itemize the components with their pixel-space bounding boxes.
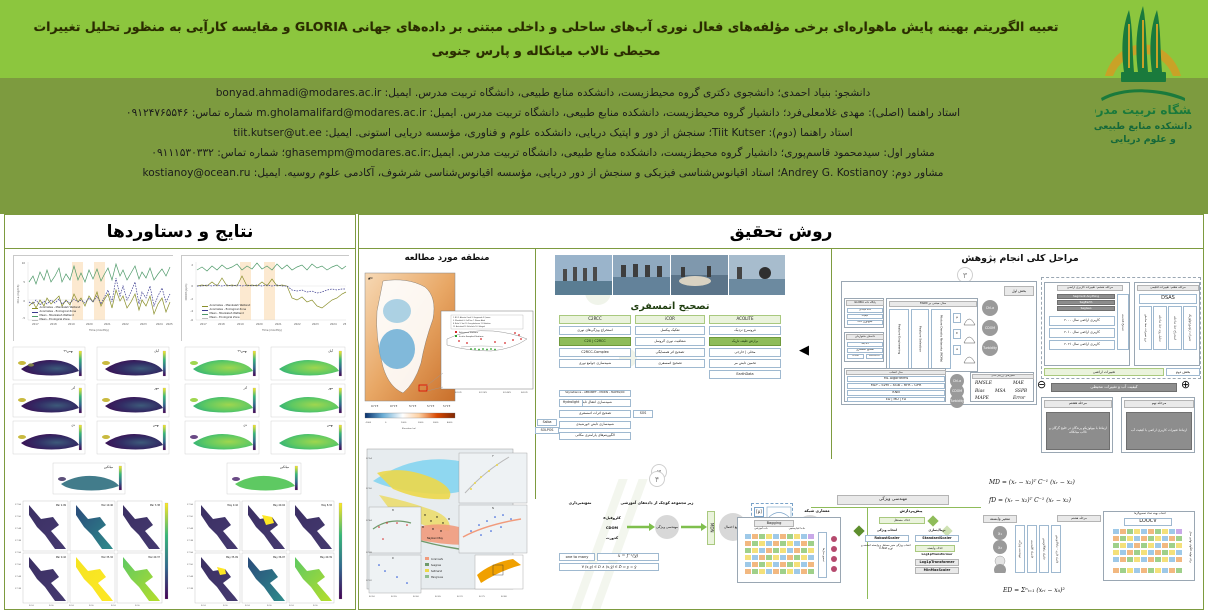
bagging-panel: Bagging داده آموزشی داده اعتبارسنجی <box>737 517 841 583</box>
svg-text:52.70: 52.70 <box>457 596 463 598</box>
stage9-text: ارتباط تغییرات کاربری اراضی با کیفیت آب <box>1126 412 1192 450</box>
svg-text:2000: 2000 <box>418 422 424 424</box>
ml-row-models: MLP – SVM – XGB – RFR – GPR <box>847 383 945 389</box>
monthly-map-mean-left: میانگین <box>51 461 139 497</box>
svg-text:52.75: 52.75 <box>479 596 485 598</box>
svg-text:x₁: x₁ <box>998 531 1002 536</box>
author-line-supervisor-second: استاد راهنما (دوم): Tiit Kutser؛ سنجش از… <box>10 124 1076 144</box>
svg-text:25: 25 <box>343 322 347 326</box>
svg-text:27.56: 27.56 <box>15 552 22 554</box>
svg-text:27.50: 27.50 <box>187 564 194 566</box>
atm-item: برازش طیف تاریک <box>709 337 781 346</box>
mdn-sampling-label: نمونه‌برداری <box>553 501 607 505</box>
atm-item: EarthData <box>709 370 781 379</box>
svg-text:27.44: 27.44 <box>366 520 372 522</box>
mdn-feature-engineering-node: مهندسی ویژگی <box>655 515 679 539</box>
nn-nodes: x₁ x₂ <box>987 525 1013 573</box>
svg-text:Mar 10.46: Mar 10.46 <box>101 504 113 507</box>
svg-text:27.50: 27.50 <box>366 488 372 490</box>
lulc-block: مرحله ششم: تغییرات کاربری اراضی Segment … <box>1044 282 1130 366</box>
preprocessing-label: پیش‌پردازش <box>883 509 939 513</box>
distance-panel: متغیر وابسته مرحله هشتم x₁ x₂ مهندسی ویژ… <box>983 515 1101 577</box>
dist-col-mahalanobis: فاصله ماهالانوبیس <box>1039 525 1049 573</box>
mdn-target-cdom: CDOM <box>597 527 627 531</box>
svg-text:-5: -5 <box>22 316 25 320</box>
stage8-title: مرحله هشتم <box>1044 400 1112 408</box>
svg-text:2024: 2024 <box>330 322 337 326</box>
mdn-block-title: مدل مبتنی بر MDN <box>889 301 977 307</box>
svg-text:Mar 35.32: Mar 35.32 <box>101 556 113 559</box>
mdn-eq-inverse: x = f⁻¹(y) <box>597 553 659 561</box>
atm-side-row: تصحیح اثرات اتمسفری <box>559 410 631 418</box>
bagging-valid-label: داده اعتبارسنجی <box>780 528 814 531</box>
svg-text:10: 10 <box>22 261 26 265</box>
scaler-log1p: Log1pTransformer <box>915 559 959 566</box>
diamond-icon <box>853 525 865 537</box>
step-badge-mdn: ۴ <box>649 471 665 487</box>
svg-text:52.4: 52.4 <box>201 605 206 607</box>
svg-text:-1000: -1000 <box>365 422 372 424</box>
svg-text:54°0'E: 54°0'E <box>443 405 451 408</box>
svg-text:52.6: 52.6 <box>89 605 94 607</box>
metric-mae: MAE <box>1013 381 1024 386</box>
shoreline-col: تحلیل روند خط ساحلی <box>1153 306 1167 350</box>
metric-msa: MSA <box>995 389 1006 394</box>
svg-text:May 0.42: May 0.42 <box>227 504 238 507</box>
bay-panels-turbidity: May 0.42 May 40.04 May 8.32 <box>183 499 353 607</box>
svg-text:50°0'E: 50°0'E <box>409 405 417 408</box>
atm-side-row: شبیه‌سازی تابش خورشیدی <box>559 421 631 429</box>
svg-text:بهمن: بهمن <box>153 423 159 427</box>
timeseries-chart-cdom: 2 0 -2 -4 -6 201720182019 202020212022 2… <box>181 255 349 341</box>
cdom-legend: Anomalies - Miankaleh Wetland Anomalies … <box>202 304 250 320</box>
svg-text:27.56: 27.56 <box>187 504 194 506</box>
part1-panel: بخش اول Chl-a CDOM Turbidity مدل مبتنی ب… <box>841 281 1037 405</box>
poster-title-line2: محیطی تالاب میانکاله و پارس جنوبی <box>34 39 1059 63</box>
shoreline-block: مرحله هفتم: تغییرات اقلیمی DSAS نرخ تغیی… <box>1134 282 1200 366</box>
shoreline-col: استخراج خط ساحلی <box>1168 306 1182 350</box>
svg-text:Time (monthly): Time (monthly) <box>262 328 282 332</box>
svg-text:دانشگاه تربیت مدرس: دانشگاه تربیت مدرس <box>1095 103 1191 117</box>
section-results: نتایج و دستاوردها <box>4 214 356 610</box>
atm-side-label-sos: SOS <box>633 410 653 418</box>
svg-text:52.65: 52.65 <box>435 596 441 598</box>
university-logo: دانشگاه تربیت مدرس دانشکده منابع طبیعی و… <box>1084 2 1202 210</box>
svg-text:2022: 2022 <box>294 322 301 326</box>
poster-root: تعبیه الگوریتم بهینه پایش ماهواره‌ای برخ… <box>0 0 1208 610</box>
svg-text:میانگین: میانگین <box>104 465 114 469</box>
svg-text:27.54: 27.54 <box>366 458 372 460</box>
ml-row-knn: KNN <box>847 390 945 396</box>
svg-text:بهمن۹۹: بهمن۹۹ <box>64 349 74 353</box>
loocv-panel: انتخاب بهینه تعداد تصحیح‌گرها LOOCV <box>1103 511 1195 581</box>
svg-text:2019: 2019 <box>237 322 244 326</box>
svg-text:Mar 40.37: Mar 40.37 <box>148 556 160 559</box>
svg-text:52.4: 52.4 <box>111 605 116 607</box>
svg-text:53°0'E: 53°0'E <box>455 392 462 394</box>
svg-text:53°20'E: 53°20'E <box>479 392 488 394</box>
svg-text:52.6: 52.6 <box>135 605 140 607</box>
svg-text:27.38: 27.38 <box>366 552 372 554</box>
svg-text:Reference Stations: Reference Stations <box>459 331 478 334</box>
bagging-output-nodes <box>829 534 839 578</box>
pre-std-label: نرمال‌سازی <box>915 529 959 532</box>
loocv-label: LOOCV <box>1124 518 1172 526</box>
shoreline-col: تغییرات ژئومورفولوژیک <box>1183 306 1197 350</box>
svg-text:27.38: 27.38 <box>187 540 194 542</box>
svg-text:52.55: 52.55 <box>391 596 397 598</box>
research-steps-title: مراحل کلی انجام پژوهش <box>839 253 1201 264</box>
chla-legend: Anomalies - Miankaleh Wetland Anomalies … <box>32 306 80 322</box>
atm-side-label-aeronet: Skyradiance – AERONET – MODIS – MAPSS/OC <box>559 390 631 397</box>
svg-text:2025: 2025 <box>166 322 173 326</box>
dist-col-fuzzy-mahalanobis: فاصله فازی – ماهالانوبیس <box>1051 525 1061 573</box>
tarbiat-modares-logo-icon: دانشگاه تربیت مدرس <box>1095 2 1191 120</box>
svg-text:آذر: آذر <box>70 386 75 390</box>
author-line-advisor-first: مشاور اول: سیدمحمود قاسم‌پوری؛ دانشیار گ… <box>10 143 1076 163</box>
param-alpha: α <box>953 345 961 355</box>
atm-item: C2X | C2RCC <box>559 337 631 346</box>
atm-item: تصحیح اثر همسایگی <box>635 348 705 357</box>
dist-col-euclidean: فاصله اقلیدسی <box>1027 525 1037 573</box>
lulc-change-bar: تغییرات اراضی <box>1044 368 1164 376</box>
svg-text:27.44: 27.44 <box>15 576 22 578</box>
svg-text:Mangroves: Mangroves <box>431 576 444 579</box>
scaler-minmax: MinMaxScaler <box>915 567 959 574</box>
atm-col-header-acolite: ACOLITE <box>709 315 781 324</box>
svg-text:2018: 2018 <box>50 322 57 326</box>
mdn-target-turbidity: کدورت <box>597 537 627 541</box>
svg-text:52.4: 52.4 <box>245 605 250 607</box>
ml-row-distances: ED | MD | FD <box>847 397 945 402</box>
stage8-text: ارتباط با بیولوژیکو پرندگان در خلیج گرگا… <box>1046 412 1110 450</box>
method-section-title: روش تحقیق <box>730 222 833 242</box>
svg-text:Seagrass: Seagrass <box>431 564 442 567</box>
atm-item: تصحیح اتمسفری <box>635 359 705 368</box>
gloria-row: کیفیت <box>847 314 883 319</box>
svg-text:May 40.04: May 40.04 <box>273 504 286 507</box>
svg-text:آبان: آبان <box>328 349 333 353</box>
svg-text:2024: 2024 <box>156 322 163 326</box>
scaler-robust: RobustScaler <box>865 535 909 542</box>
svg-text:Elevation (m): Elevation (m) <box>402 427 416 430</box>
mdn-network-label: MDN <box>707 511 715 545</box>
chip-independent: حذف مستقل <box>879 517 925 524</box>
svg-text:52.60: 52.60 <box>413 596 419 598</box>
mdn-feature-engineering: Feature Engineering <box>889 309 909 369</box>
svg-text:3000: 3000 <box>433 422 439 424</box>
svg-text:CDOM (ppm): CDOM (ppm) <box>184 284 188 301</box>
svg-text:27.44: 27.44 <box>187 528 194 530</box>
svg-text:48°0'E: 48°0'E <box>390 405 398 408</box>
atm-item: شبیه‌سازی جوامع نوری <box>559 359 631 368</box>
section-method: روش تحقیق منطقه مورد مطالعه <box>358 214 1204 610</box>
mdn-density-curves <box>963 311 977 369</box>
timeseries-chla-svg: 10 5 0 -5 201720182019 202020212022 2023… <box>14 256 174 342</box>
target-cdom: CDOM <box>982 320 998 336</box>
bagging-grid <box>744 533 816 579</box>
pre-norm-desc: انتخاب ویژگی مغیر مستقل و وابسته انحاضه … <box>861 544 911 551</box>
svg-text:Chl-a (mg/m3): Chl-a (mg/m3) <box>16 285 20 304</box>
svg-text:Nayband Bay: Nayband Bay <box>427 537 444 540</box>
legend-item: Mean - Ecological Zone <box>202 316 250 320</box>
atm-side-label-salba: Salba <box>537 419 557 426</box>
mdn-arrow-icon-1 <box>627 521 655 533</box>
svg-text:Mar 0.42: Mar 0.42 <box>56 556 67 559</box>
legend-item: Mean - Ecological Zone <box>32 318 80 322</box>
gloria-row: داده میدانی <box>847 308 883 313</box>
author-line-supervisor-main: استاد راهنما (اصلی): مهدی غلامعلی‌فرد؛ د… <box>10 104 1076 124</box>
svg-text:2023: 2023 <box>312 322 319 326</box>
svg-text:آذر: آذر <box>242 386 247 390</box>
arrow-right-circle-icon: ⊖ <box>1037 379 1046 390</box>
target-turbidity: Turbidity <box>982 340 998 356</box>
formula-fuzzy-mahalanobis: fD = (xᵣ − x₂)ᵀ C⁻¹ (xᵣ − x₂) <box>989 497 1071 504</box>
svg-text:4000: 4000 <box>447 422 453 424</box>
mdn-feature-selection: Feature Selection <box>911 309 929 369</box>
svg-text:آبان: آبان <box>154 349 159 353</box>
svg-text:27.56: 27.56 <box>187 552 194 554</box>
svg-text:مهر: مهر <box>153 386 159 390</box>
svg-text:27.44: 27.44 <box>187 576 194 578</box>
lulc-segment: SegGeo <box>1057 306 1115 311</box>
lulc-year-2000: کاربری اراضی سال ۲۰۰۰ <box>1049 316 1115 326</box>
field-photo-strip <box>555 255 785 295</box>
svg-text:52°0'E: 52°0'E <box>427 405 435 408</box>
svg-text:بهمن: بهمن <box>327 423 333 427</box>
metrics-panel: معیارهای ارزیابی مدل RMSLE MAE Bias MSA … <box>970 372 1034 402</box>
network-architecture-label: معماری شبکه <box>789 509 845 513</box>
formula-euclidean: ED = Σⁿᵢ₌₁ (xᵣᵢ − xᵢᵢ)² <box>1003 587 1065 594</box>
atmospheric-correction-columns: C2RCC استخراج ویژگی‌های نوری C2X | C2RCC… <box>559 315 781 387</box>
timeseries-chart-chla: 10 5 0 -5 201720182019 202020212022 2023… <box>13 255 173 341</box>
svg-text:52.4: 52.4 <box>69 605 74 607</box>
divider-steps <box>831 249 832 459</box>
formula-mahalanobis: MD = (xᵣ − x₂)ᵀ C⁻¹ (xᵣ − x₂) <box>989 479 1075 486</box>
svg-text:52.6: 52.6 <box>313 605 318 607</box>
metric-bias: Bias <box>975 389 985 394</box>
lulc-side-label: تصحیح هندسی <box>1117 294 1129 350</box>
mdn-subset-label: زیر مجموعه کوچک از داده‌های آموزشی <box>609 501 705 505</box>
svg-text:53°40'E: 53°40'E <box>503 392 512 394</box>
svg-text:-4: -4 <box>190 309 193 313</box>
shoreline-title: مرحله هفتم: تغییرات اقلیمی <box>1137 285 1199 291</box>
metric-error: Error <box>1013 396 1025 401</box>
target-chla: Chl-a <box>982 300 998 316</box>
results-section-title: نتایج و دستاوردها <box>107 222 254 242</box>
svg-text:27.32: 27.32 <box>366 580 372 582</box>
atm-item: تفکیک پیکسل <box>635 326 705 335</box>
metric-mape: MAPE <box>975 396 989 401</box>
svg-text:54°0'E: 54°0'E <box>521 392 528 394</box>
svg-text:-2: -2 <box>190 297 193 301</box>
poster-title-line1: تعبیه الگوریتم بهینه پایش ماهواره‌ای برخ… <box>34 15 1059 39</box>
gloria-row: جمع‌آوری داده <box>847 320 883 325</box>
poster-title: تعبیه الگوریتم بهینه پایش ماهواره‌ای برخ… <box>20 11 1189 67</box>
svg-text:2020: 2020 <box>86 322 93 326</box>
bagging-label: Bagging <box>754 520 794 527</box>
dependent-variable-label: متغیر وابسته <box>983 515 1017 523</box>
water-quality-bar: کیفیت آب و تغییرات محیطی <box>1051 383 1177 392</box>
sat-row: تصحیح اتمسفری <box>847 348 883 353</box>
feature-engineering-rule <box>811 507 981 508</box>
svg-text:27.50: 27.50 <box>15 516 22 518</box>
atm-item: استخراج ویژگی‌های نوری <box>559 326 631 335</box>
chip-dependent: حذف وابسته <box>915 545 955 552</box>
left-arrow-icon: ◀ <box>799 344 809 357</box>
svg-text:Time (monthly): Time (monthly) <box>89 328 109 332</box>
svg-text:Mar 3.38: Mar 3.38 <box>150 504 161 507</box>
svg-text:0: 0 <box>385 422 387 424</box>
stage9-title: مرحله نهم <box>1124 400 1194 408</box>
svg-text:2017: 2017 <box>200 322 207 326</box>
monthly-map-mean-right: میانگین <box>225 461 313 497</box>
part1-label: بخش اول <box>1004 286 1034 296</box>
svg-text:52.6: 52.6 <box>49 605 54 607</box>
svg-text:Saltmarsh: Saltmarsh <box>431 570 443 573</box>
bagging-train-label: داده آموزشی <box>746 528 776 531</box>
mdn-networks: Mixture Density Networks (MDNs) <box>931 309 951 369</box>
svg-text:بهمن۹۹: بهمن۹۹ <box>238 349 248 353</box>
mdn-eq-one-to-many: one to many <box>559 553 595 561</box>
svg-text:مهر: مهر <box>327 386 333 390</box>
logo-subtitle-line2: و علوم دریایی <box>1094 134 1192 147</box>
stage-label: مرحله هشتم <box>1057 515 1101 522</box>
loocv-caption: انتخاب بهینه تعداد تصحیح‌گرها <box>1112 513 1188 516</box>
study-area-title: منطقه مورد مطالعه <box>361 253 533 263</box>
metrics-title: معیارهای ارزیابی مدل <box>972 374 1034 379</box>
atmospheric-correction-title: تصحیح اتمسفری <box>555 301 785 312</box>
part2-panel: مرحله ششم: تغییرات کاربری اراضی Segment … <box>1041 277 1201 379</box>
diamond-icon <box>927 515 939 527</box>
sat-row: iCOR <box>847 354 864 359</box>
sat-row: ACOLITE <box>866 354 883 359</box>
svg-text:52.6: 52.6 <box>267 605 272 607</box>
monthly-maps-grid-left: بهمن۹۹ آبان <box>11 345 177 461</box>
svg-text:46°0'E: 46°0'E <box>371 405 379 408</box>
lulc-year-2010: کاربری اراضی سال ۲۰۱۰ <box>1049 328 1115 338</box>
author-line-advisor-second: مشاور دوم: Andrey G. Kostianoy؛ استاد اق… <box>10 163 1076 183</box>
gloria-title: پایگاه داده GLORIA <box>846 300 884 306</box>
atm-item: شفافیت نوری آئروسل <box>635 337 705 346</box>
author-band: دانشجو: بنیاد احمدی؛ دانشجوی دکتری گروه … <box>0 78 1208 214</box>
results-section-header: نتایج و دستاوردها <box>5 215 355 249</box>
pre-label-label: Log1pTransformer <box>915 553 959 556</box>
method-section-header: روش تحقیق <box>359 215 1203 249</box>
svg-text:52.6: 52.6 <box>223 605 228 607</box>
param-sigma: Σ <box>953 329 961 339</box>
ml-row-algorithms: ML Algorithms <box>847 376 945 382</box>
svg-text:27.38: 27.38 <box>15 588 22 590</box>
logo-subtitle: دانشکده منابع طبیعی و علوم دریایی <box>1094 121 1192 147</box>
svg-text:May 35.09: May 35.09 <box>226 556 239 559</box>
loocv-grid <box>1112 528 1184 576</box>
lulc-year-2021: کاربری اراضی سال ۲۰۲۱ <box>1049 340 1115 350</box>
stage9-panel: مرحله نهم ارتباط تغییرات کاربری اراضی با… <box>1121 397 1195 453</box>
timeseries-cdom-svg: 2 0 -2 -4 -6 201720182019 202020212022 2… <box>182 256 350 342</box>
mdn-target-chla: کلروفیل‌a <box>597 517 627 521</box>
mdn-block: مدل مبتنی بر MDN Feature Engineering Fea… <box>886 298 978 372</box>
svg-text:27.50: 27.50 <box>187 516 194 518</box>
bagging-aggregate-label: تجمیع مدل‌ها <box>818 532 827 578</box>
atm-item: محلی | خارجی <box>709 348 781 357</box>
atm-side-row: الگوریتم‌های پارامتری مکانی <box>559 432 631 440</box>
lulc-segment: SegEarth <box>1057 300 1115 305</box>
svg-text:2023: 2023 <box>140 322 147 326</box>
lulc-title: مرحله ششم: تغییرات کاربری اراضی <box>1057 285 1123 291</box>
atm-col-header-c2rcc: C2RCC <box>559 315 631 324</box>
svg-text:In-situ Sampled Stations: In-situ Sampled Stations <box>459 335 483 338</box>
scaler-standard: StandardScaler <box>915 535 959 542</box>
bay-panels-chlorophyll: Mar 2.99 Mar 10.46 Mar 3.38 <box>11 499 179 607</box>
svg-text:-6: -6 <box>190 318 193 322</box>
loocv-side-label: برای تولید الگوی نهایی مدل <box>1186 520 1195 574</box>
sat-row: S2/S3 <box>847 342 883 347</box>
mdn-eq-forall: ∀ (x,y) ∈ D ∧ (x,ŷ) ∈ D̂ ⇒ y = ŷ <box>559 563 659 571</box>
data-source-gloria: پایگاه داده GLORIA داده میدانی کیفیت جمع… <box>844 298 884 328</box>
feature-engineering-title: مهندسی ویژگی <box>837 495 949 505</box>
lulc-segment: Segment Anything <box>1057 294 1115 299</box>
svg-text:2021: 2021 <box>275 322 282 326</box>
svg-text:x₂: x₂ <box>998 545 1002 550</box>
ml-panel-title: مدل انتخاب <box>846 370 946 375</box>
svg-text:2022: 2022 <box>122 322 129 326</box>
svg-text:52.4: 52.4 <box>289 605 294 607</box>
divider-study-area <box>535 249 536 499</box>
habitat-map-persian-gulf: Nayband Bay B D F <box>363 445 535 607</box>
metric-rmsle: RMSLE <box>975 381 992 386</box>
svg-text:27.44: 27.44 <box>15 528 22 530</box>
stage8-panel: مرحله هشتم ارتباط با بیولوژیکو پرندگان د… <box>1041 397 1113 453</box>
mdn-param-mu: [μ] <box>754 507 764 517</box>
atm-side-label-solpos: SOLPOS <box>535 427 559 434</box>
svg-text:میانگین: میانگین <box>280 465 290 469</box>
svg-text:2019: 2019 <box>68 322 75 326</box>
poster-title-band: تعبیه الگوریتم بهینه پایش ماهواره‌ای برخ… <box>0 0 1208 78</box>
monthly-maps-grid-right: بهمن۹۹ آبان آذر <box>183 345 351 461</box>
svg-text:May 8.32: May 8.32 <box>321 504 332 507</box>
shoreline-col: نرخ تغییرات خط ساحلی <box>1139 306 1152 350</box>
svg-text:27.38: 27.38 <box>15 540 22 542</box>
svg-text:52.50: 52.50 <box>369 596 375 598</box>
svg-text:2018: 2018 <box>218 322 225 326</box>
ml-algorithms-panel: مدل انتخاب ML Algorithms MLP – SVM – XGB… <box>844 368 946 402</box>
shoreline-tool-dsas: DSAS <box>1139 294 1197 304</box>
svg-text:1000: 1000 <box>401 422 407 424</box>
method-section-body: منطقه مورد مطالعه <box>359 249 1203 609</box>
param-mu: μ <box>953 313 961 323</box>
svg-text:27.50: 27.50 <box>15 564 22 566</box>
output-turbidity-circle: Turbidity <box>950 394 964 408</box>
atm-item: فروسرخ نزدیک <box>709 326 781 335</box>
atm-col-header-icor: iCOR <box>635 315 705 324</box>
svg-text:May 40.39: May 40.39 <box>320 556 333 559</box>
pre-norm-label: انتخاب ویژگی <box>865 529 909 532</box>
sat-title: داده‌های ماهواره‌ای <box>846 334 884 340</box>
svg-text:Mar 2.99: Mar 2.99 <box>56 504 67 507</box>
mdn-arrow-icon-2 <box>681 521 707 533</box>
svg-text:52.4: 52.4 <box>29 605 34 607</box>
svg-text:2021: 2021 <box>104 322 111 326</box>
svg-text:2017: 2017 <box>32 322 39 326</box>
part2-label: بخش دوم <box>1166 368 1200 376</box>
svg-text:Coral reefs: Coral reefs <box>431 558 444 561</box>
arrow-down-circle-icon: ⊕ <box>1181 379 1190 390</box>
metric-sspb: SSPB <box>1015 389 1027 394</box>
atm-side-label-hydrolight: Hydrolight <box>559 399 583 407</box>
svg-text:May 36.97: May 36.97 <box>273 556 286 559</box>
svg-text:2020: 2020 <box>256 322 263 326</box>
